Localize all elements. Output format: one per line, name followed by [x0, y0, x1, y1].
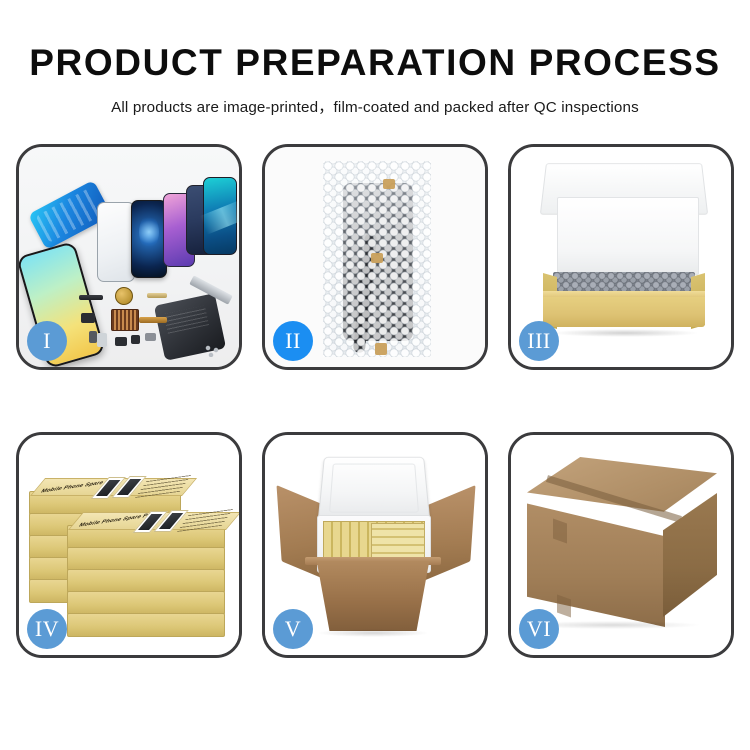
- step-badge-5: V: [273, 609, 313, 649]
- page-title: PRODUCT PREPARATION PROCESS: [0, 0, 750, 83]
- small-part-icon: [131, 335, 140, 344]
- retail-box: [67, 569, 225, 593]
- page-header: PRODUCT PREPARATION PROCESS All products…: [0, 0, 750, 117]
- box-front-wall: [543, 297, 705, 327]
- small-part-icon: [115, 337, 127, 346]
- step-badge-6: VI: [519, 609, 559, 649]
- process-step-panel-5[interactable]: V: [262, 432, 488, 658]
- process-step-panel-1[interactable]: I: [16, 144, 242, 370]
- step-badge-3: III: [519, 321, 559, 361]
- process-steps-grid: I II III: [16, 144, 734, 684]
- carton-front-face: [527, 501, 665, 627]
- screws-icon: [205, 345, 221, 357]
- retail-box-lid: Mobile Phone Spare Parts: [30, 478, 197, 496]
- retail-box: [67, 547, 225, 571]
- phone-teal-icon: [203, 177, 237, 255]
- flex-cable-icon: [79, 295, 103, 300]
- drop-shadow: [317, 629, 429, 637]
- small-part-icon: [145, 333, 156, 341]
- tape-piece: [383, 179, 395, 189]
- bubble-wrap-bag: [323, 161, 431, 357]
- small-part-icon: [89, 331, 97, 343]
- process-step-panel-3[interactable]: III: [508, 144, 734, 370]
- small-part-icon: [81, 313, 95, 323]
- foam-box-lid: [318, 457, 431, 521]
- retail-boxes-inside: [371, 523, 425, 561]
- speaker-module-icon: [115, 287, 133, 305]
- carton-tape-tab: [557, 594, 571, 617]
- connector-strip-icon: [147, 293, 167, 298]
- tempered-glass-icon: [97, 202, 135, 282]
- process-step-panel-6[interactable]: VI: [508, 432, 734, 658]
- retail-box: [67, 591, 225, 615]
- step-badge-4: IV: [27, 609, 67, 649]
- retail-box: Mobile Phone Spare Parts: [67, 525, 225, 549]
- phone-display-icon: [131, 200, 167, 278]
- process-step-panel-2[interactable]: II: [262, 144, 488, 370]
- tape-piece: [375, 343, 387, 355]
- process-step-panel-4[interactable]: Mobile Phone Spare Parts Mobile Phone Sp…: [16, 432, 242, 658]
- step-badge-2: II: [273, 321, 313, 361]
- flex-cable-gold-icon: [139, 317, 167, 323]
- foam-sheet: [557, 197, 699, 275]
- drop-shadow: [551, 329, 699, 337]
- carton-front-wall: [309, 561, 437, 631]
- retail-box: [67, 613, 225, 637]
- small-part-icon: [97, 333, 107, 347]
- carton-side-face: [663, 493, 717, 617]
- circuit-board-icon: [111, 309, 139, 331]
- page-subtitle: All products are image-printed，film-coat…: [0, 83, 750, 117]
- shipping-carton: [527, 457, 717, 639]
- retail-box-lid: Mobile Phone Spare Parts: [68, 512, 239, 530]
- tape-piece: [371, 253, 383, 263]
- step-badge-1: I: [27, 321, 67, 361]
